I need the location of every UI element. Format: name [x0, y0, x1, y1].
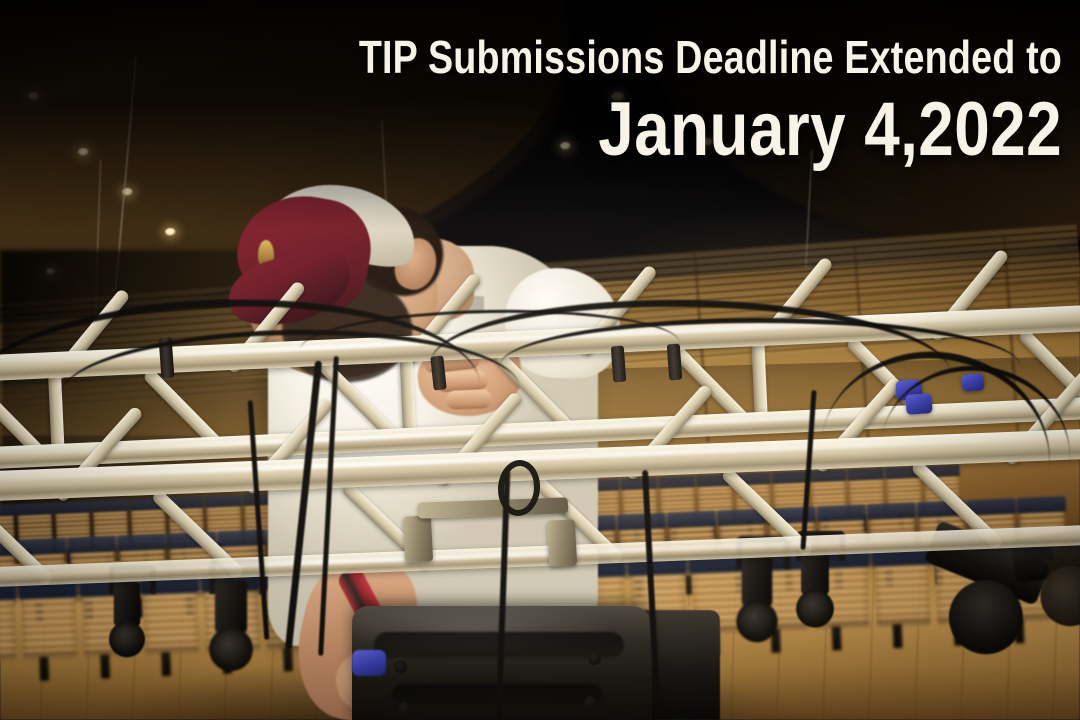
fixture-body — [742, 556, 773, 606]
fixture-lens-icon — [209, 627, 253, 671]
fixture-bolt — [398, 702, 411, 715]
fixture-lens-icon — [109, 621, 145, 657]
headline-line-2: January 4,2022 — [170, 80, 1062, 168]
fixture-body — [114, 582, 141, 626]
fixture-lens-icon — [736, 601, 777, 642]
blue-connector-foreground — [352, 650, 386, 676]
truss-clamp — [403, 515, 433, 562]
downlight-icon — [165, 228, 176, 236]
fixture-bolt — [584, 696, 597, 709]
auditorium-seat — [21, 596, 77, 660]
auditorium-seat — [0, 598, 16, 662]
headline-overlay: TIP Submissions Deadline Extended to Jan… — [0, 0, 1080, 168]
truss-clamp — [547, 519, 577, 566]
auditorium-seat — [874, 563, 930, 627]
banner-image: TIP Submissions Deadline Extended to Jan… — [0, 0, 1080, 720]
fixture-bolt — [394, 660, 407, 673]
headline-line-1: TIP Submissions Deadline Extended to — [191, 0, 1062, 80]
fixture-body — [215, 580, 247, 633]
fixture-lens-icon — [796, 590, 834, 628]
fixture-bolt — [588, 652, 601, 665]
